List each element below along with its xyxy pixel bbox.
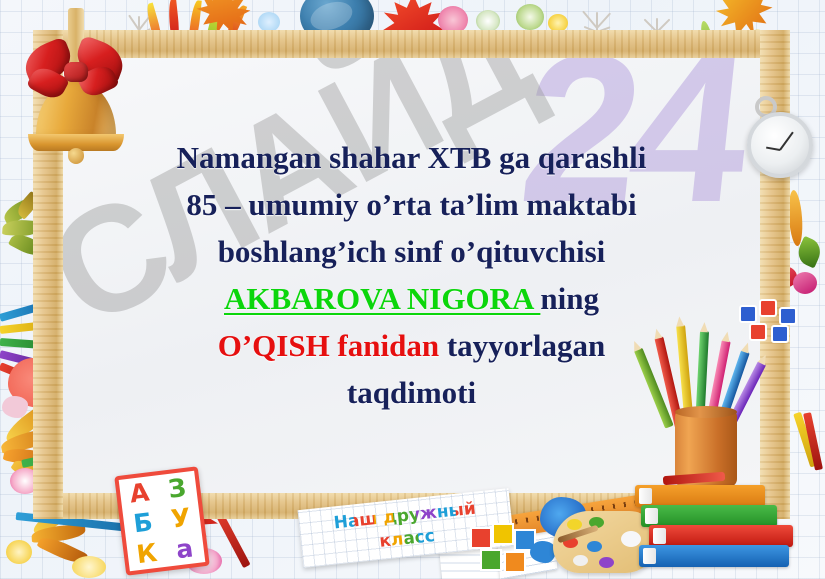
teacher-name-highlight: AKBAROVA NIGORA bbox=[224, 281, 540, 316]
palette-blob bbox=[567, 519, 582, 530]
flower-icon bbox=[258, 12, 280, 32]
title-text: taqdimoti bbox=[347, 375, 476, 410]
abc-letter: Б bbox=[132, 510, 154, 537]
abc-letter: З bbox=[167, 475, 188, 502]
presentation-title-slide: 24 СЛАЙД Namangan shahar XTB ga qarashli… bbox=[0, 0, 825, 579]
title-line-1: Namangan shahar XTB ga qarashli bbox=[77, 134, 746, 181]
maple-leaf-icon bbox=[708, 0, 779, 46]
title-text: boshlang’ich sinf o’qituvchisi bbox=[218, 234, 606, 269]
palette-blob bbox=[573, 555, 588, 566]
stacked-books-icon bbox=[635, 485, 803, 571]
watch-face bbox=[747, 112, 813, 178]
flower-icon bbox=[6, 540, 32, 564]
subject-highlight: O’QISH fanidan bbox=[218, 328, 447, 363]
title-line-3: boshlang’ich sinf o’qituvchisi bbox=[77, 228, 746, 275]
flower-icon bbox=[548, 14, 568, 32]
flower-icon bbox=[72, 556, 106, 578]
bell-clapper bbox=[68, 148, 84, 164]
flower-icon bbox=[476, 10, 500, 32]
book-blue bbox=[639, 545, 789, 567]
flower-icon bbox=[516, 4, 544, 30]
flower-icon bbox=[767, 190, 825, 300]
palette-blob bbox=[587, 541, 602, 552]
globe-icon bbox=[300, 0, 374, 46]
palette-blob bbox=[599, 557, 614, 568]
flower-icon bbox=[10, 468, 40, 494]
bell-icon bbox=[18, 8, 136, 173]
book-orange bbox=[635, 485, 765, 507]
abc-letter: А bbox=[128, 479, 150, 506]
maple-leaf-icon bbox=[382, 0, 444, 52]
abc-book-icon: А З Б У К а bbox=[114, 466, 210, 575]
abc-letter: а bbox=[175, 536, 195, 563]
twig-icon bbox=[636, 4, 680, 44]
flower-icon bbox=[438, 6, 468, 34]
abc-letter: У bbox=[170, 505, 192, 532]
title-line-2: 85 – umumiy o’rta ta’lim maktabi bbox=[77, 181, 746, 228]
title-text: 85 – umumiy o’rta ta’lim maktabi bbox=[186, 187, 636, 222]
paint-splat-icon bbox=[2, 396, 28, 418]
title-text: Namangan shahar XTB ga qarashli bbox=[177, 140, 647, 175]
abc-letter: К bbox=[135, 540, 158, 567]
banner-line-2: класс bbox=[378, 526, 435, 552]
title-text: tayyorlagan bbox=[447, 328, 605, 363]
book-green bbox=[641, 505, 777, 527]
book-red bbox=[649, 525, 793, 547]
ribbon-knot bbox=[64, 62, 88, 82]
twig-icon bbox=[572, 0, 624, 46]
pocket-watch-icon bbox=[743, 96, 817, 192]
maple-leaf-icon bbox=[190, 0, 257, 43]
title-line-4: AKBAROVA NIGORA ning bbox=[77, 275, 746, 322]
colored-pencils-icon bbox=[795, 405, 825, 495]
flower-icon bbox=[0, 192, 56, 272]
title-text: ning bbox=[540, 281, 599, 316]
